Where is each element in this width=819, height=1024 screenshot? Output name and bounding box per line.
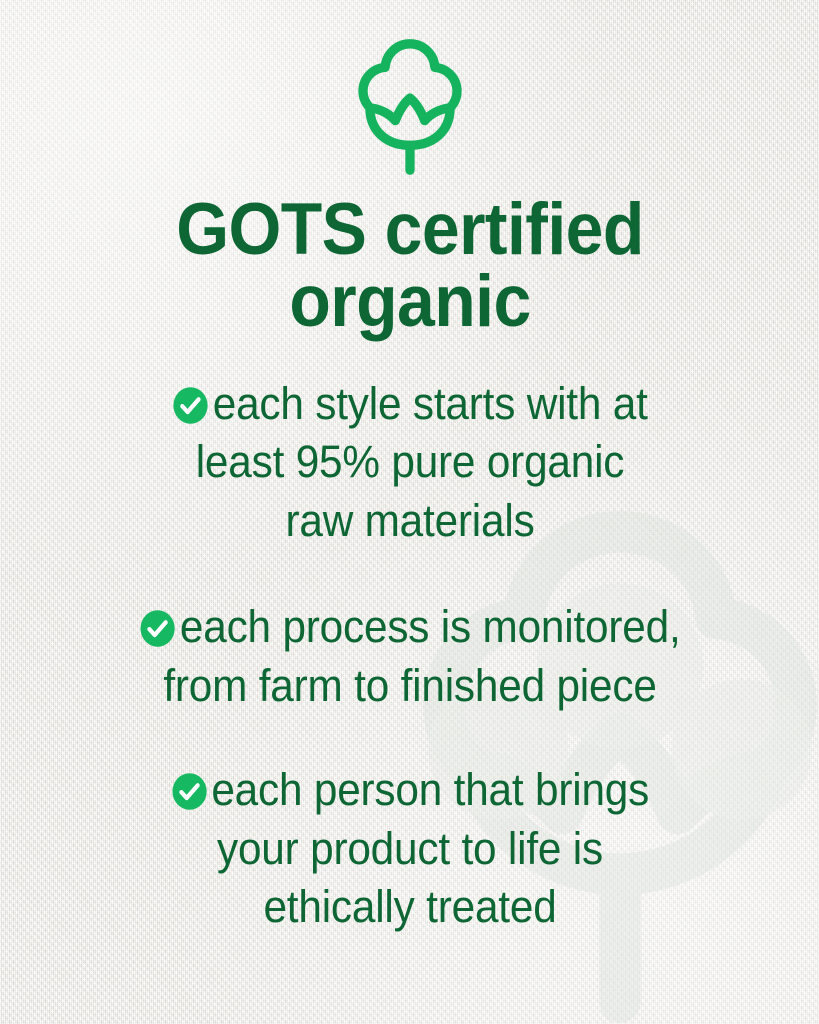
list-item-line: each style starts with at <box>212 378 647 429</box>
list-item-line: ethically treated <box>263 881 556 932</box>
list-item: each style starts with at least 95% pure… <box>99 375 719 551</box>
benefit-list: each style starts with at least 95% pure… <box>30 373 790 937</box>
list-item: each person that brings your product to … <box>99 761 719 937</box>
check-circle-icon <box>170 772 207 811</box>
check-circle-icon <box>139 609 176 648</box>
list-item-line: raw materials <box>285 495 534 546</box>
title-line-2: organic <box>289 261 530 342</box>
cotton-boll-icon <box>351 36 469 178</box>
promo-card: GOTS certified organic each style starts… <box>0 0 819 1024</box>
list-item: each process is monitored, from farm to … <box>66 598 752 715</box>
list-item-line: from farm to finished piece <box>163 660 656 711</box>
list-item-line: each process is monitored, <box>179 601 680 652</box>
card-content: GOTS certified organic each style starts… <box>0 0 819 1024</box>
list-item-line: each person that brings <box>211 764 649 815</box>
list-item-line: your product to life is <box>217 823 603 874</box>
check-circle-icon <box>172 386 209 425</box>
title-line-1: GOTS certified <box>176 189 644 270</box>
page-title: GOTS certified organic <box>112 194 707 339</box>
list-item-line: least 95% pure organic <box>195 436 624 487</box>
